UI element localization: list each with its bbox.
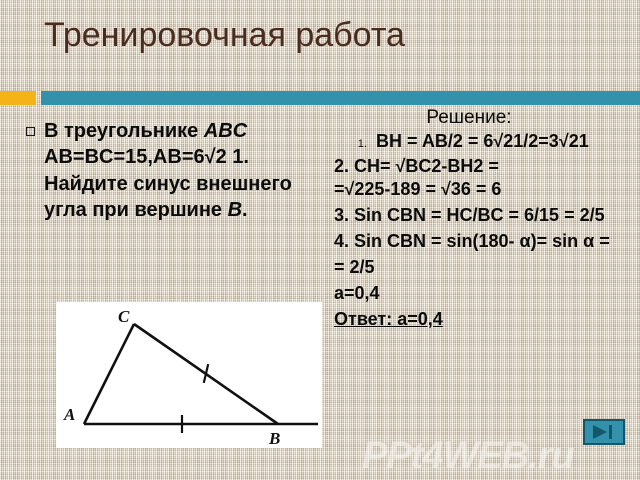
solution-step-1: BH = AB/2 = 6√21/2=3√21 — [370, 131, 632, 152]
problem-line-1-italic: ABC — [204, 120, 247, 142]
slide-canvas: Тренировочная работа В треугольнике ABC … — [0, 0, 640, 480]
divider-bar — [41, 91, 640, 105]
problem-column: В треугольнике ABC AB=BC=15,AB=6√2 1. На… — [26, 118, 326, 224]
vertex-label-b: B — [268, 429, 280, 448]
solution-heading: Решение: — [332, 107, 632, 129]
page-title: Тренировочная работа — [44, 16, 405, 55]
triangle-abc-svg: C A B — [56, 302, 322, 448]
problem-bullet-row: В треугольнике ABC AB=BC=15,AB=6√2 1. На… — [26, 118, 326, 224]
triangle-figure: C A B — [56, 302, 322, 448]
divider-accent-block — [0, 91, 36, 105]
problem-line-1: В треугольнике — [44, 120, 204, 142]
problem-statement: В треугольнике ABC AB=BC=15,AB=6√2 1. На… — [44, 118, 326, 224]
vertex-label-a: A — [63, 405, 75, 424]
solution-line-5: 4. Sin CBN = sin(180- α)= sin α = — [334, 231, 632, 253]
problem-line-2: AB=BC=15,AB=6√2 — [44, 146, 227, 168]
solution-answer-wrap: Ответ: a=0,4 — [332, 305, 632, 330]
solution-line-6: = 2/5 — [334, 257, 632, 279]
watermark: PPt4WEB.ru — [362, 435, 574, 478]
solution-step-list: BH = AB/2 = 6√21/2=3√21 — [332, 131, 632, 152]
solution-line-4: 3. Sin CBN = HC/BC = 6/15 = 2/5 — [334, 205, 632, 227]
answer-text: Ответ: a=0,4 — [334, 309, 443, 330]
square-bullet-icon — [26, 127, 35, 136]
problem-line-3-italic: B — [228, 199, 242, 221]
next-slide-button[interactable] — [583, 419, 625, 445]
solution-line-3: =√225-189 = √36 = 6 — [334, 179, 632, 201]
solution-line-2: 2. CH= √BC2-BH2 = — [334, 156, 632, 178]
line-ac — [84, 324, 134, 424]
solution-step-1-text: BH = AB/2 = 6√21/2=3√21 — [376, 131, 632, 152]
solution-line-7: a=0,4 — [334, 283, 632, 305]
vertex-label-c: C — [118, 307, 130, 326]
solution-column: Решение: BH = AB/2 = 6√21/2=3√21 2. CH= … — [332, 107, 632, 330]
problem-line-3-end: . — [242, 199, 248, 221]
skip-forward-icon — [591, 424, 617, 440]
